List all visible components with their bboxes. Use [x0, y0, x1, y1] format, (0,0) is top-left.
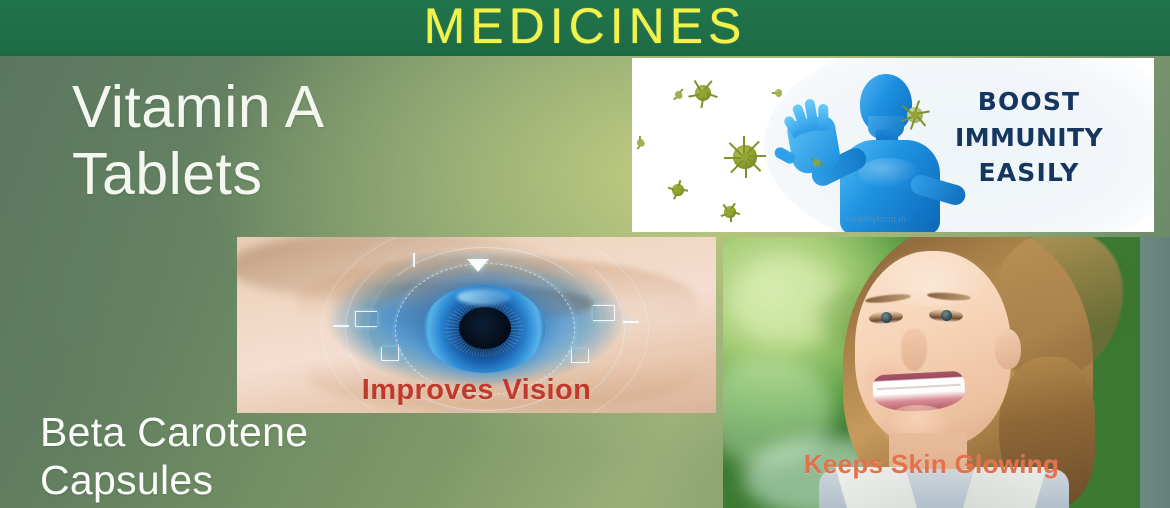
virus-germ-icon — [672, 88, 685, 101]
skin-caption: Keeps Skin Glowing — [723, 449, 1140, 480]
headline-line-1: Vitamin A — [72, 74, 325, 140]
page-title: MEDICINES — [424, 1, 747, 51]
headline-line-2: Tablets — [72, 141, 632, 208]
woman-right-pupil — [941, 310, 952, 321]
slide-header-bar: MEDICINES — [0, 0, 1170, 56]
hud-bracket-lower-left-icon — [381, 347, 399, 361]
subheadline-beta-carotene: Beta Carotene Capsules Human Body Suppor… — [40, 409, 660, 508]
woman-left-pupil — [881, 312, 892, 323]
virus-germ-icon — [720, 202, 740, 222]
virus-germ-icon — [772, 86, 785, 99]
hud-bracket-left-icon — [355, 311, 377, 327]
virus-germ-icon — [668, 180, 688, 200]
right-edge-strip — [1140, 237, 1170, 508]
subheadline-line-1: Beta Carotene — [40, 409, 660, 457]
immunity-line-3: EASILY — [918, 155, 1140, 191]
immunity-headline: BOOST IMMUNITY EASILY — [918, 84, 1140, 191]
headline-vitamin-a: Vitamin A Tablets — [72, 74, 632, 207]
improves-vision-image: Improves Vision — [237, 237, 716, 413]
immunity-line-2: IMMUNITY — [918, 120, 1140, 156]
virus-germ-icon — [810, 156, 823, 169]
banner-watermark: healthyfood.in — [846, 214, 906, 224]
hud-tick-icon — [623, 321, 639, 323]
hud-tick-icon — [413, 253, 415, 267]
vision-caption: Improves Vision — [237, 374, 716, 407]
hud-bracket-lower-right-icon — [571, 349, 589, 363]
slide-canvas: MEDICINES Vitamin A Tablets Beta Caroten… — [0, 0, 1170, 508]
hud-bracket-right-icon — [593, 305, 615, 321]
subheadline-line-2: Capsules — [40, 457, 660, 505]
hud-tick-icon — [333, 325, 349, 327]
virus-germ-icon — [724, 136, 766, 178]
hud-caret-icon — [467, 259, 489, 272]
woman-ear — [995, 329, 1021, 369]
immunity-line-1: BOOST — [918, 84, 1140, 120]
virus-germ-icon — [634, 136, 647, 149]
virus-germ-icon — [688, 78, 718, 108]
boost-immunity-banner: BOOST IMMUNITY EASILY healthyfood.in — [632, 58, 1154, 232]
keeps-skin-glowing-image: Keeps Skin Glowing — [723, 237, 1140, 508]
